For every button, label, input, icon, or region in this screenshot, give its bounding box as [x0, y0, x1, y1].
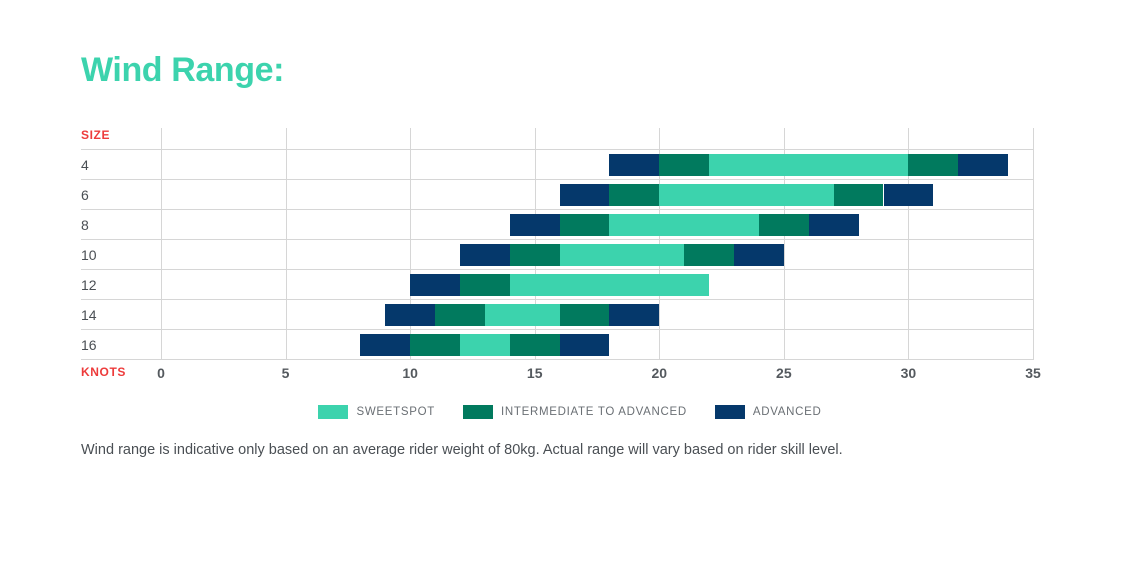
bar-segment-intermediate[interactable]: [908, 154, 958, 176]
legend-swatch-intermediate: [463, 405, 493, 419]
chart-plot-area: SIZE 46810121416: [81, 128, 1033, 360]
wind-range-bar-size-6[interactable]: [560, 184, 934, 206]
x-tick-0: 0: [157, 365, 165, 381]
legend-label-advanced: ADVANCED: [753, 406, 822, 418]
bar-segment-intermediate[interactable]: [460, 274, 510, 296]
x-tick-35: 35: [1025, 365, 1041, 381]
bar-segment-sweetspot[interactable]: [460, 334, 510, 356]
bar-segment-sweetspot[interactable]: [510, 274, 709, 296]
wind-range-chart-page: Wind Range: SIZE 46810121416 KNOTS 05101…: [0, 0, 1140, 586]
x-axis-title: KNOTS: [81, 365, 126, 379]
wind-range-bar-size-12[interactable]: [410, 274, 709, 296]
wind-range-bar-size-4[interactable]: [609, 154, 1008, 176]
header-plot-spacer: [161, 128, 1033, 149]
x-axis: KNOTS 05101520253035: [81, 362, 1033, 386]
bar-segment-intermediate[interactable]: [609, 184, 659, 206]
chart-row: 12: [81, 270, 1033, 300]
legend-item-advanced[interactable]: ADVANCED: [715, 405, 822, 419]
x-tick-20: 20: [651, 365, 667, 381]
bar-segment-advanced[interactable]: [410, 274, 460, 296]
bar-segment-advanced[interactable]: [385, 304, 435, 326]
chart-header-row: SIZE: [81, 128, 1033, 150]
bar-segment-advanced[interactable]: [560, 184, 610, 206]
bar-segment-advanced[interactable]: [958, 154, 1008, 176]
bar-segment-advanced[interactable]: [360, 334, 410, 356]
legend-swatch-advanced: [715, 405, 745, 419]
legend-item-sweetspot[interactable]: SWEETSPOT: [318, 405, 435, 419]
bar-segment-advanced[interactable]: [734, 244, 784, 266]
x-tick-10: 10: [402, 365, 418, 381]
bar-segment-intermediate[interactable]: [560, 214, 610, 236]
legend-item-intermediate[interactable]: INTERMEDIATE TO ADVANCED: [463, 405, 687, 419]
x-tick-15: 15: [527, 365, 543, 381]
legend-label-intermediate: INTERMEDIATE TO ADVANCED: [501, 406, 687, 418]
size-label-8: 8: [81, 210, 161, 239]
chart-legend: SWEETSPOTINTERMEDIATE TO ADVANCEDADVANCE…: [0, 405, 1140, 419]
bar-segment-intermediate[interactable]: [510, 334, 560, 356]
row-plot-14: [161, 300, 1033, 329]
bar-segment-sweetspot[interactable]: [485, 304, 560, 326]
size-label-14: 14: [81, 300, 161, 329]
bar-segment-advanced[interactable]: [510, 214, 560, 236]
bar-segment-intermediate[interactable]: [684, 244, 734, 266]
chart-row: 6: [81, 180, 1033, 210]
wind-range-bar-size-14[interactable]: [385, 304, 659, 326]
row-plot-4: [161, 150, 1033, 179]
size-label-6: 6: [81, 180, 161, 209]
chart-row: 4: [81, 150, 1033, 180]
x-tick-25: 25: [776, 365, 792, 381]
row-plot-6: [161, 180, 1033, 209]
x-tick-30: 30: [901, 365, 917, 381]
wind-range-bar-size-8[interactable]: [510, 214, 859, 236]
bar-segment-advanced[interactable]: [809, 214, 859, 236]
wind-range-bar-size-16[interactable]: [360, 334, 609, 356]
bar-segment-intermediate[interactable]: [759, 214, 809, 236]
bar-segment-intermediate[interactable]: [659, 154, 709, 176]
gridline-35: [1033, 128, 1034, 360]
bar-segment-sweetspot[interactable]: [560, 244, 685, 266]
chart-row: 14: [81, 300, 1033, 330]
chart-footnote: Wind range is indicative only based on a…: [81, 440, 1041, 460]
bar-segment-advanced[interactable]: [560, 334, 610, 356]
bar-segment-sweetspot[interactable]: [659, 184, 833, 206]
size-label-4: 4: [81, 150, 161, 179]
x-tick-5: 5: [282, 365, 290, 381]
bar-segment-intermediate[interactable]: [435, 304, 485, 326]
size-column-header: SIZE: [81, 128, 161, 149]
bar-segment-intermediate[interactable]: [560, 304, 610, 326]
bar-segment-sweetspot[interactable]: [709, 154, 908, 176]
chart-rows: SIZE 46810121416: [81, 128, 1033, 360]
wind-range-bar-size-10[interactable]: [460, 244, 784, 266]
bar-segment-advanced[interactable]: [460, 244, 510, 266]
row-plot-10: [161, 240, 1033, 269]
legend-label-sweetspot: SWEETSPOT: [356, 406, 435, 418]
bar-segment-advanced[interactable]: [884, 184, 934, 206]
chart-row: 10: [81, 240, 1033, 270]
size-label-16: 16: [81, 330, 161, 359]
size-label-10: 10: [81, 240, 161, 269]
bar-segment-intermediate[interactable]: [834, 184, 884, 206]
bar-segment-sweetspot[interactable]: [609, 214, 758, 236]
chart-row: 8: [81, 210, 1033, 240]
chart-row: 16: [81, 330, 1033, 360]
size-label-12: 12: [81, 270, 161, 299]
legend-swatch-sweetspot: [318, 405, 348, 419]
row-plot-8: [161, 210, 1033, 239]
bar-segment-advanced[interactable]: [609, 154, 659, 176]
row-plot-12: [161, 270, 1033, 299]
page-title: Wind Range:: [81, 50, 284, 91]
bar-segment-intermediate[interactable]: [410, 334, 460, 356]
bar-segment-intermediate[interactable]: [510, 244, 560, 266]
bar-segment-advanced[interactable]: [609, 304, 659, 326]
row-plot-16: [161, 330, 1033, 359]
